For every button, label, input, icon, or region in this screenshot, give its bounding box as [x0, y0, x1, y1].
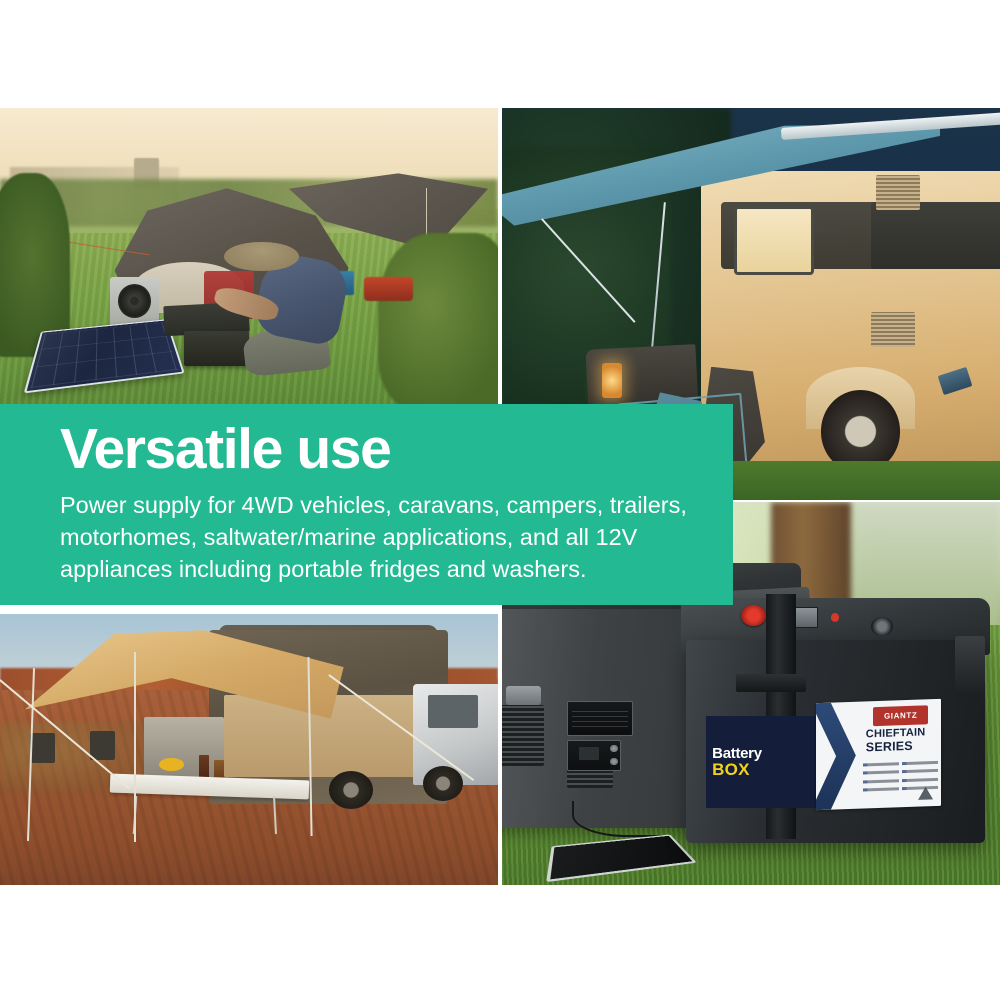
bucket-hat: [224, 242, 299, 272]
battery-box-round-port: [871, 617, 893, 636]
feature-item: [863, 779, 899, 783]
camp-kitchen-unit: [144, 717, 224, 777]
feature-item: [902, 778, 938, 782]
fridge-spec-plate: [567, 701, 633, 736]
awning-pole-2: [134, 652, 136, 842]
body-line-3: appliances including portable fridges an…: [60, 554, 675, 586]
camp-chair-far-left: [30, 733, 55, 763]
giantz-brand-text: GIANTZ: [884, 711, 917, 721]
battery-box-side-handle: [955, 636, 985, 697]
versatile-use-banner: Versatile use Power supply for 4WD vehic…: [0, 404, 733, 605]
feature-item: [902, 786, 938, 790]
shrub-right: [378, 233, 498, 405]
body-line-2: motorhomes, saltwater/marine application…: [60, 522, 675, 554]
red-bag: [364, 277, 414, 301]
fridge-handle: [506, 686, 541, 706]
ute-window: [428, 695, 478, 728]
body-line-1: Power supply for 4WD vehicles, caravans,…: [60, 490, 675, 522]
battery-box-socket: [831, 613, 839, 622]
caravan-dark-panel-2: [871, 202, 1000, 269]
photo-camping-tent-solar: [0, 108, 498, 405]
caravan-vent-lower: [871, 312, 916, 347]
caravan-window: [734, 206, 815, 275]
feature-item: [902, 761, 938, 765]
fridge-button-up: [610, 745, 617, 752]
feature-item: [863, 763, 899, 767]
battery-box-label-line2: BOX: [712, 761, 826, 779]
chevron-graphic: [816, 702, 856, 811]
marketing-banner-canvas: Battery BOX GIANTZ CHIEFTAIN SERIES Vers…: [0, 0, 1000, 1000]
battery-box-strap-buckle: [736, 674, 806, 691]
chieftain-series-label: GIANTZ CHIEFTAIN SERIES: [816, 699, 941, 811]
battery-box-navy-label: Battery BOX: [706, 716, 826, 808]
battery-box-unit: [184, 331, 249, 367]
series-name: CHIEFTAIN SERIES: [866, 727, 938, 755]
hanging-lantern: [602, 363, 622, 398]
series-line-2: SERIES: [866, 739, 938, 755]
page-title: Versatile use: [60, 420, 733, 478]
banner-body-text: Power supply for 4WD vehicles, caravans,…: [60, 490, 675, 586]
giantz-brand-badge: GIANTZ: [873, 706, 928, 726]
battery-box-label-line1: Battery: [712, 746, 826, 761]
fridge-button-down: [610, 758, 617, 765]
photo-outback-camper-trailer: [0, 614, 498, 885]
fridge-display-screen: [579, 747, 599, 760]
camp-chair-far-right: [90, 731, 115, 761]
feature-item: [863, 787, 899, 791]
ute-wheel: [423, 766, 463, 801]
feature-item: [902, 770, 938, 774]
feature-item: [863, 771, 899, 775]
fridge-vent-left: [502, 705, 544, 766]
caravan-vent-upper: [876, 175, 921, 210]
